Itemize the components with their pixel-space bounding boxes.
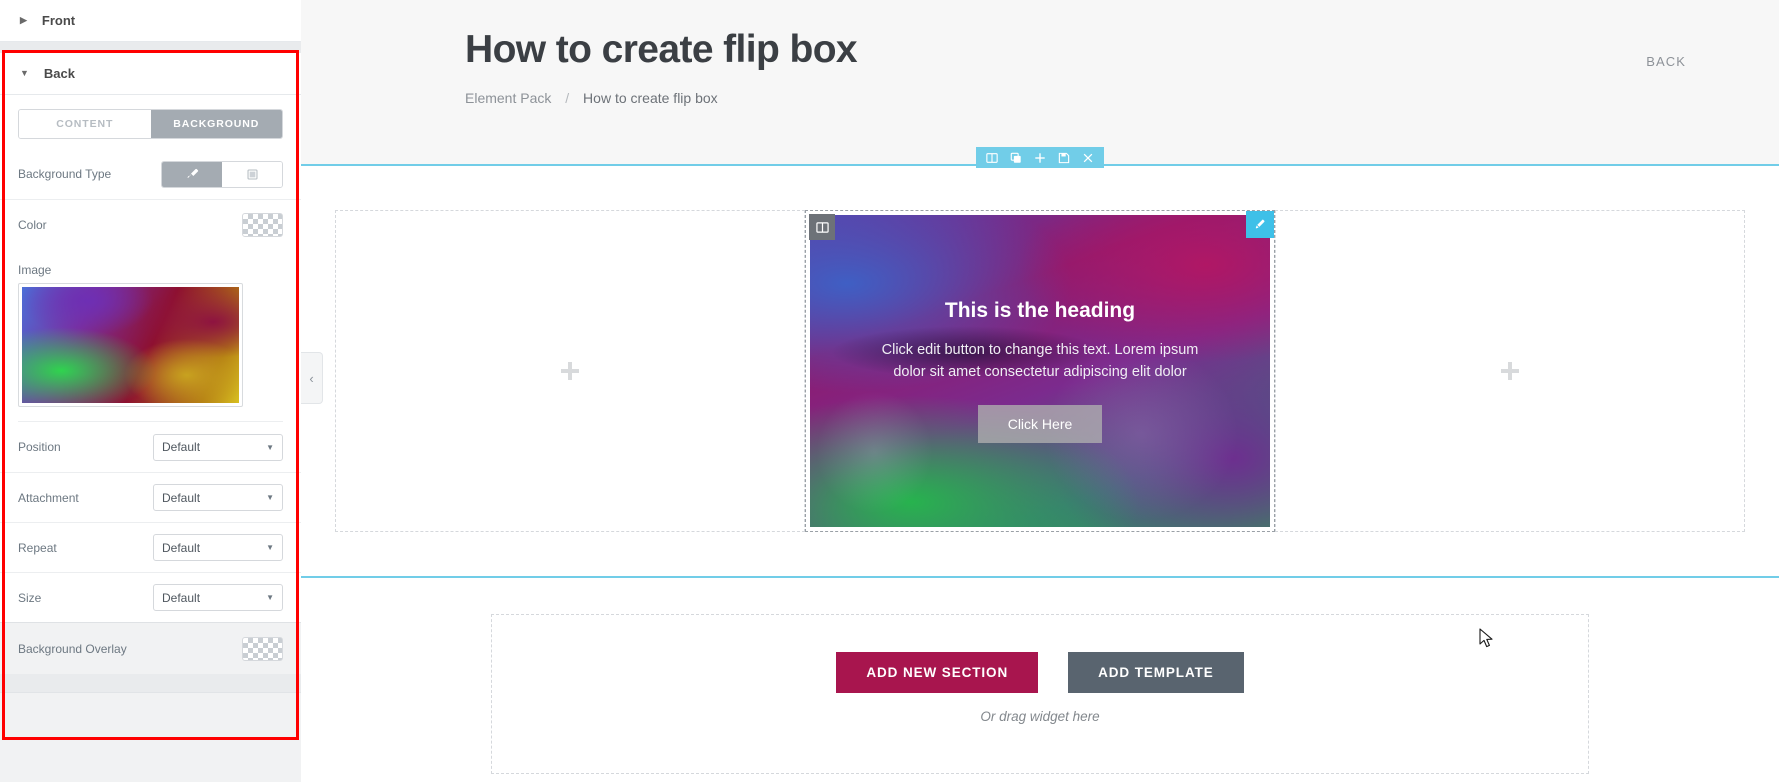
empty-column-left[interactable]	[335, 210, 805, 532]
chevron-down-icon: ▼	[266, 543, 274, 552]
page-title: How to create flip box	[465, 28, 1779, 72]
add-buttons: ADD NEW SECTION ADD TEMPLATE	[836, 652, 1243, 693]
abstract-gradient-thumbnail	[22, 287, 239, 403]
drag-widget-hint: Or drag widget here	[980, 709, 1099, 724]
add-template-button[interactable]: ADD TEMPLATE	[1068, 652, 1244, 693]
empty-column-right[interactable]	[1275, 210, 1745, 532]
field-size: Size Default ▼	[0, 572, 301, 622]
section-title-front: Front	[42, 13, 75, 28]
tab-content[interactable]: CONTENT	[19, 110, 151, 138]
image-thumbnail-wrapper[interactable]	[18, 283, 243, 407]
widget-button[interactable]: Click Here	[978, 405, 1103, 443]
label-image: Image	[18, 249, 283, 283]
elementor-editor: ▶ Front ▼ Back CONTENT BACKGROUND Backgr…	[0, 0, 1779, 782]
plus-icon[interactable]	[1029, 147, 1051, 168]
position-select[interactable]: Default ▼	[153, 434, 283, 461]
back-section: ▼ Back CONTENT BACKGROUND Background Typ…	[0, 53, 301, 622]
field-background-overlay: Background Overlay	[0, 622, 301, 674]
size-value: Default	[162, 591, 200, 605]
back-link[interactable]: BACK	[1646, 54, 1686, 69]
gradient-icon[interactable]	[222, 162, 282, 187]
expanded-caret-icon: ▼	[20, 69, 29, 78]
label-repeat: Repeat	[18, 541, 122, 555]
color-swatch[interactable]	[242, 213, 283, 237]
content-background-tabs: CONTENT BACKGROUND	[18, 109, 283, 139]
widget-text: Click edit button to change this text. L…	[875, 339, 1205, 384]
add-section-area[interactable]: ADD NEW SECTION ADD TEMPLATE Or drag wid…	[491, 614, 1589, 774]
add-new-section-button[interactable]: ADD NEW SECTION	[836, 652, 1038, 693]
field-image: Image	[0, 249, 301, 422]
save-icon[interactable]	[1053, 147, 1075, 168]
page-canvas: How to create flip box Element Pack / Ho…	[301, 0, 1779, 782]
label-position: Position	[18, 440, 122, 454]
attachment-select[interactable]: Default ▼	[153, 484, 283, 511]
label-background-type: Background Type	[18, 167, 122, 181]
tab-background[interactable]: BACKGROUND	[151, 110, 283, 138]
breadcrumb: Element Pack / How to create flip box	[465, 90, 1779, 106]
collapsed-caret-icon: ▶	[20, 16, 27, 25]
chevron-down-icon: ▼	[266, 443, 274, 452]
page-header: How to create flip box Element Pack / Ho…	[301, 0, 1779, 164]
field-background-type: Background Type	[0, 149, 301, 199]
panel-divider	[0, 42, 301, 53]
settings-panel: ▶ Front ▼ Back CONTENT BACKGROUND Backgr…	[0, 0, 301, 782]
chevron-down-icon: ▼	[266, 593, 274, 602]
background-type-toggle	[161, 161, 283, 188]
section-title-back: Back	[44, 66, 75, 81]
repeat-select[interactable]: Default ▼	[153, 534, 283, 561]
attachment-value: Default	[162, 491, 200, 505]
widget-heading: This is the heading	[945, 299, 1135, 323]
field-position: Position Default ▼	[0, 422, 301, 472]
panel-footer-bar	[0, 692, 301, 716]
breadcrumb-separator: /	[565, 90, 569, 106]
chevron-down-icon: ▼	[266, 493, 274, 502]
panel-collapse-toggle[interactable]: ‹	[301, 352, 323, 404]
widget-column[interactable]: This is the heading Click edit button to…	[805, 210, 1275, 532]
plus-icon	[1501, 362, 1519, 380]
mouse-cursor	[1479, 628, 1495, 655]
field-repeat: Repeat Default ▼	[0, 522, 301, 572]
column-handle-icon[interactable]	[809, 214, 835, 240]
section-header-front[interactable]: ▶ Front	[0, 0, 301, 42]
label-background-overlay: Background Overlay	[18, 642, 242, 656]
label-color: Color	[18, 218, 122, 232]
classic-brush-icon[interactable]	[162, 162, 222, 187]
close-icon[interactable]	[1077, 147, 1099, 168]
duplicate-icon[interactable]	[1005, 147, 1027, 168]
label-size: Size	[18, 591, 122, 605]
size-select[interactable]: Default ▼	[153, 584, 283, 611]
flip-box-widget[interactable]: This is the heading Click edit button to…	[810, 215, 1270, 527]
section-header-back[interactable]: ▼ Back	[0, 53, 301, 95]
label-attachment: Attachment	[18, 491, 122, 505]
columns-icon[interactable]	[981, 147, 1003, 168]
editor-section: This is the heading Click edit button to…	[301, 164, 1779, 578]
position-value: Default	[162, 440, 200, 454]
plus-icon	[561, 362, 579, 380]
pencil-edit-icon[interactable]	[1246, 211, 1274, 238]
panel-footer	[0, 674, 301, 692]
background-overlay-swatch[interactable]	[242, 637, 283, 661]
section-columns: This is the heading Click edit button to…	[301, 166, 1779, 576]
field-color: Color	[0, 199, 301, 249]
field-attachment: Attachment Default ▼	[0, 472, 301, 522]
breadcrumb-parent[interactable]: Element Pack	[465, 90, 551, 106]
repeat-value: Default	[162, 541, 200, 555]
section-toolbar	[976, 147, 1104, 168]
breadcrumb-current: How to create flip box	[583, 90, 718, 106]
